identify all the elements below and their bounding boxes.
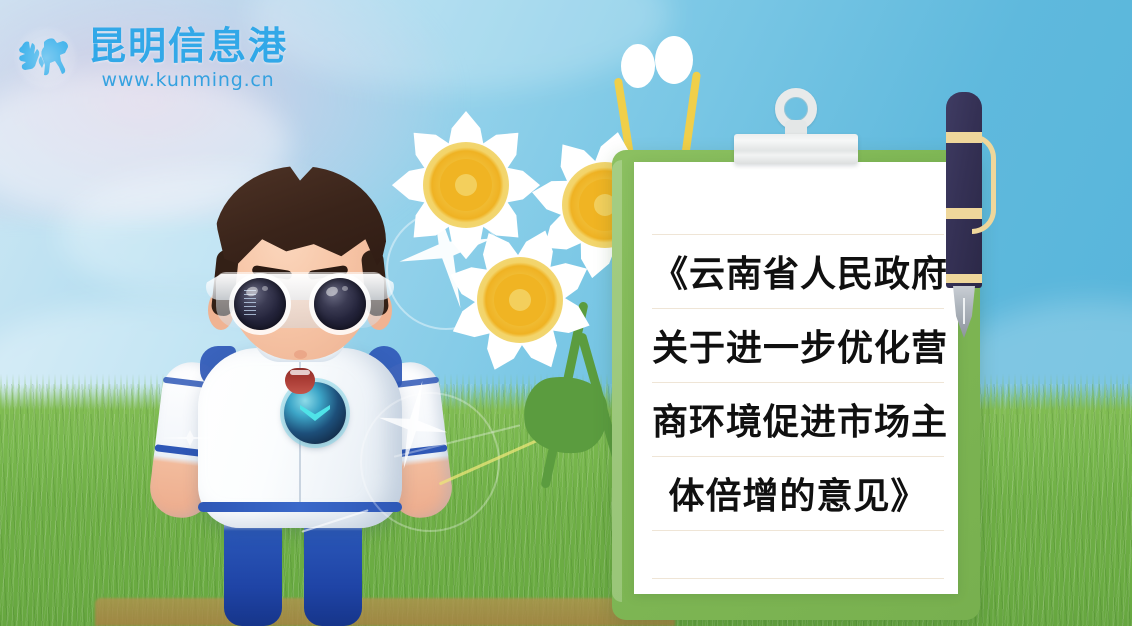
twin-horse-logo-icon [14,26,78,90]
logo-text-block: 昆明信息港 www.kunming.cn [88,27,288,90]
clipboard-edge-highlight [612,160,622,602]
goggles-lens-left [234,278,286,330]
glow-ring [360,392,500,532]
lens-glint [342,286,348,291]
mouth-open [285,368,315,394]
cartoon-boy-astronaut [150,150,450,626]
kunming-information-port-logo: 昆明信息港 www.kunming.cn [14,26,288,90]
pen-nib [953,286,975,338]
policy-document-clipboard[interactable]: 《云南省人民政府 关于进一步优化营 商环境促进市场主 体倍增的意见》 [612,150,980,620]
document-line: 《云南省人民政府 [652,238,944,312]
suit-belt [198,502,402,512]
flower-bud-left [621,44,655,88]
clipboard-clip-icon[interactable] [734,88,858,164]
document-line: 商环境促进市场主 [652,386,944,460]
goggles-lens-right [314,278,366,330]
flower-bud-right [655,36,693,84]
flower-center [477,257,563,343]
ar-goggles-icon [206,268,394,330]
flower-center [423,142,509,228]
document-line: 体倍增的意见》 [652,460,944,534]
video-frame: 《云南省人民政府 关于进一步优化营 商环境促进市场主 体倍增的意见》 [0,0,1132,626]
fountain-pen-icon[interactable] [946,92,982,342]
pen-band [946,208,982,219]
lens-glint [262,286,268,291]
clip-bar [734,134,858,164]
nose [294,350,307,359]
document-text-block: 《云南省人民政府 关于进一步优化营 商环境促进市场主 体倍增的意见》 [652,238,944,534]
document-line: 关于进一步优化营 [652,312,944,386]
head [212,172,388,362]
pen-band [946,132,982,143]
emblem-glyph-icon [300,405,330,421]
pen-band [946,274,982,283]
logo-url: www.kunming.cn [88,71,288,90]
logo-brand-name: 昆明信息港 [88,27,288,65]
logo-halo [14,26,78,90]
clipboard-paper: 《云南省人民政府 关于进一步优化营 商环境促进市场主 体倍增的意见》 [634,162,958,594]
pen-clip [972,134,996,234]
lens-glint [325,285,339,298]
